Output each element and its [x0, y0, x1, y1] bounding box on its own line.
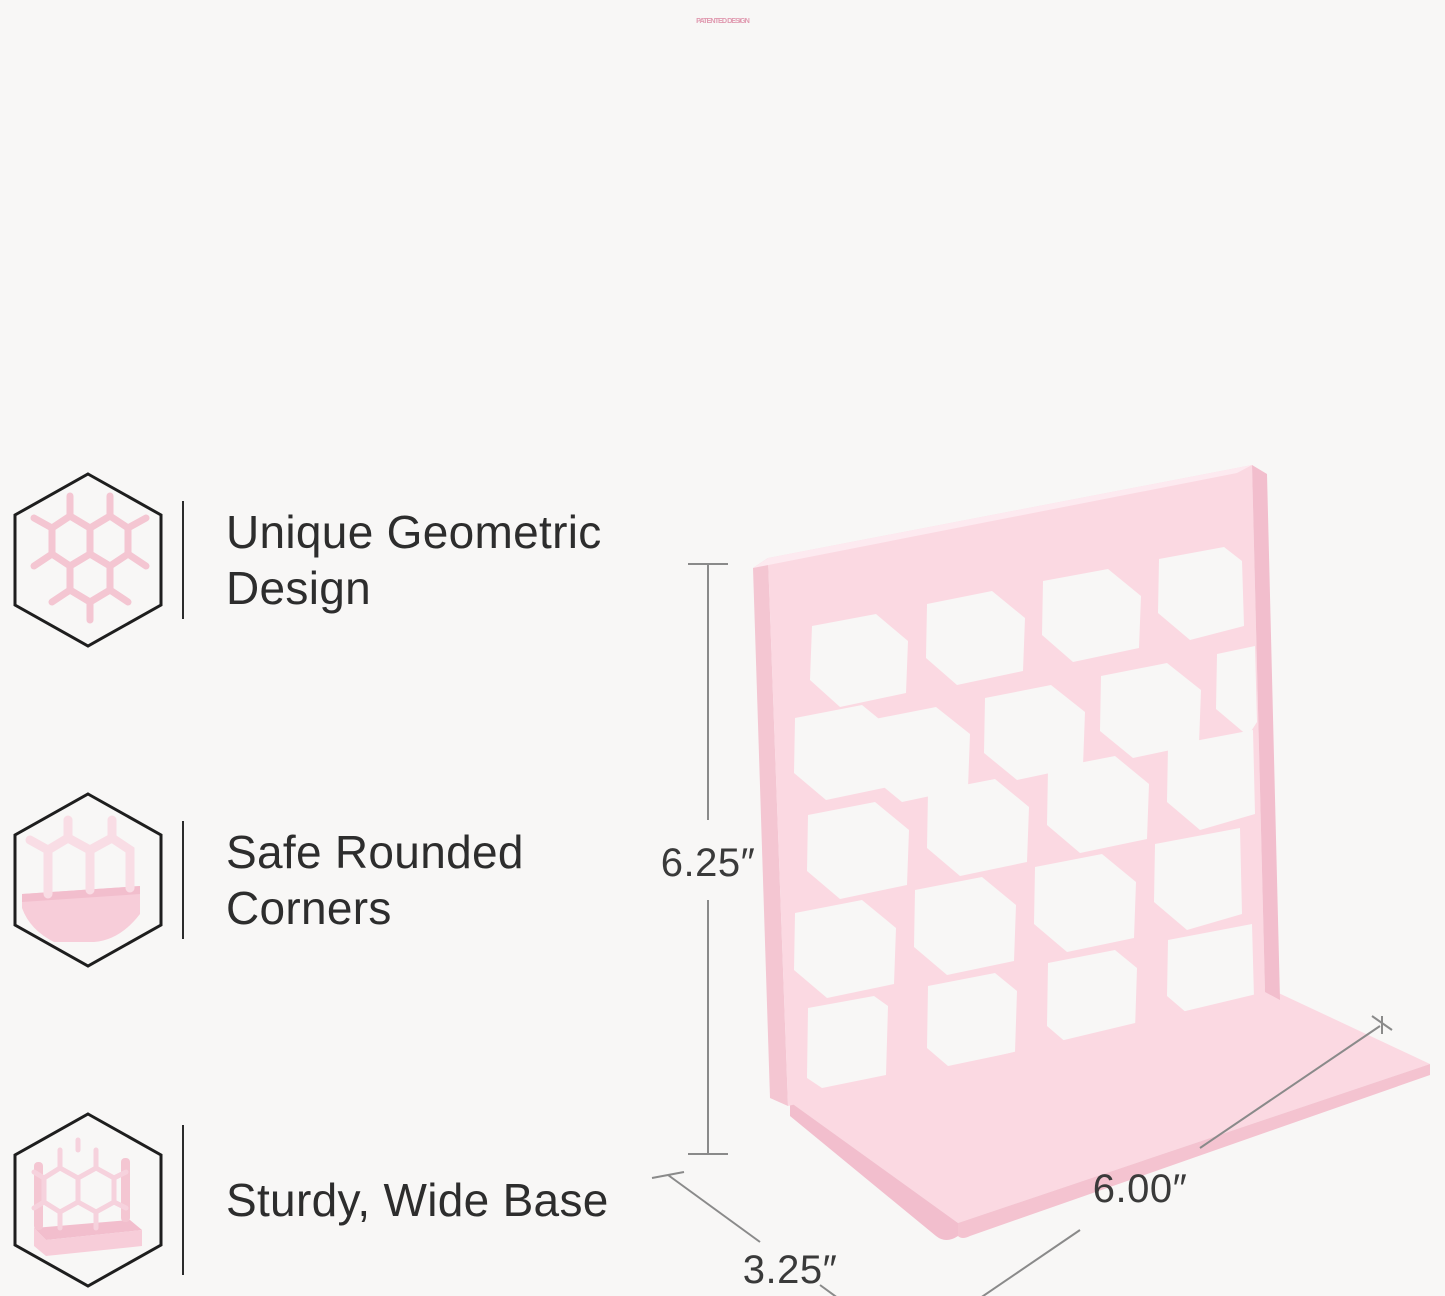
dimension-depth-label: 3.25″	[743, 1248, 838, 1292]
feature-row-sturdy-wide-base: Sturdy, Wide Base	[8, 1110, 609, 1290]
wide-base-bookend-icon	[8, 1110, 168, 1290]
feature-divider	[182, 821, 184, 939]
page-title-line-2: PATENTED DESIGN	[0, 18, 1445, 25]
rounded-corner-detail-icon	[8, 790, 168, 970]
feature-label: Sturdy, Wide Base	[226, 1172, 609, 1228]
feature-row-safe-rounded-corners: Safe Rounded Corners	[8, 790, 524, 970]
dimension-width-label: 6.00″	[1093, 1167, 1188, 1211]
feature-divider	[182, 1125, 184, 1275]
product-illustration: 6.25″ 3.25″ 6.00″	[640, 430, 1445, 1296]
feature-label: Unique Geometric Design	[226, 504, 602, 616]
feature-divider	[182, 501, 184, 619]
feature-label: Safe Rounded Corners	[226, 824, 524, 936]
header: ORIGINAL PATENTED DESIGN Designed in New…	[0, 0, 1445, 47]
dimension-height-label: 6.25″	[661, 841, 756, 885]
honeycomb-mesh-icon	[8, 470, 168, 650]
feature-row-unique-geometric-design: Unique Geometric Design	[8, 470, 602, 650]
